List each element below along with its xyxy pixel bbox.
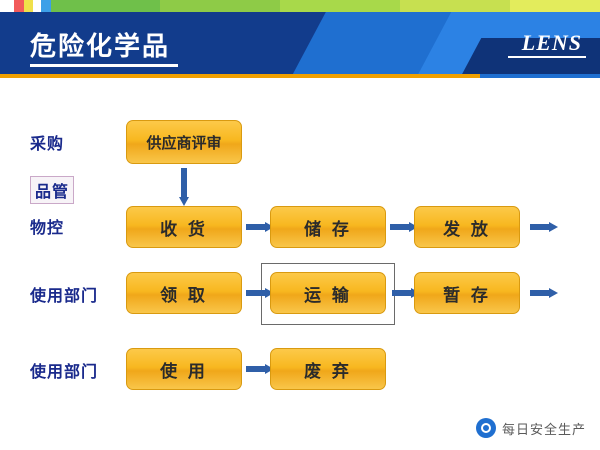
strip-segment-10 (510, 0, 600, 12)
slide-header: 危险化学品 LENS (0, 12, 600, 74)
node-receiving[interactable]: 收 货 (126, 206, 242, 248)
strip-segment-1 (14, 0, 24, 12)
page-title: 危险化学品 (30, 26, 170, 63)
row-label-using-dept-2: 使用部门 (30, 358, 98, 382)
strip-segment-red (0, 0, 14, 12)
node-supplier-review[interactable]: 供应商评审 (126, 120, 242, 164)
node-transport[interactable]: 运 输 (270, 272, 386, 314)
row-label-quality-control: 品管 (30, 176, 74, 204)
strip-segment-6 (60, 0, 160, 12)
arrow-temp-storage-out (530, 288, 558, 298)
brand-underline (508, 56, 586, 58)
node-use[interactable]: 使 用 (126, 348, 242, 390)
strip-segment-7 (160, 0, 280, 12)
strip-segment-4 (41, 0, 51, 12)
arrow-issue-out (530, 222, 558, 232)
strip-segment-2 (24, 0, 33, 12)
watermark-logo-icon (476, 418, 496, 438)
row-label-purchasing: 采购 (30, 130, 64, 154)
strip-segment-8 (280, 0, 400, 12)
row-label-material-control: 物控 (30, 214, 64, 238)
node-issue[interactable]: 发 放 (414, 206, 520, 248)
node-temp-storage[interactable]: 暂 存 (414, 272, 520, 314)
strip-segment-3 (33, 0, 41, 12)
brand-logo-text: LENS (522, 30, 582, 56)
strip-segment-5 (51, 0, 60, 12)
strip-segment-9 (400, 0, 510, 12)
title-underline (30, 64, 178, 67)
top-color-strip (0, 0, 600, 12)
footer-watermark: 每日安全生产 (476, 418, 586, 438)
watermark-text: 每日安全生产 (502, 419, 586, 438)
node-dispose[interactable]: 废 弃 (270, 348, 386, 390)
row-label-using-dept-1: 使用部门 (30, 282, 98, 306)
node-storage[interactable]: 储 存 (270, 206, 386, 248)
arrow-supplier-to-receiving (179, 168, 189, 206)
flow-diagram: 采购 品管 物控 使用部门 使用部门 供应商评审 收 货 储 存 发 放 领 取… (0, 78, 600, 450)
node-collect[interactable]: 领 取 (126, 272, 242, 314)
